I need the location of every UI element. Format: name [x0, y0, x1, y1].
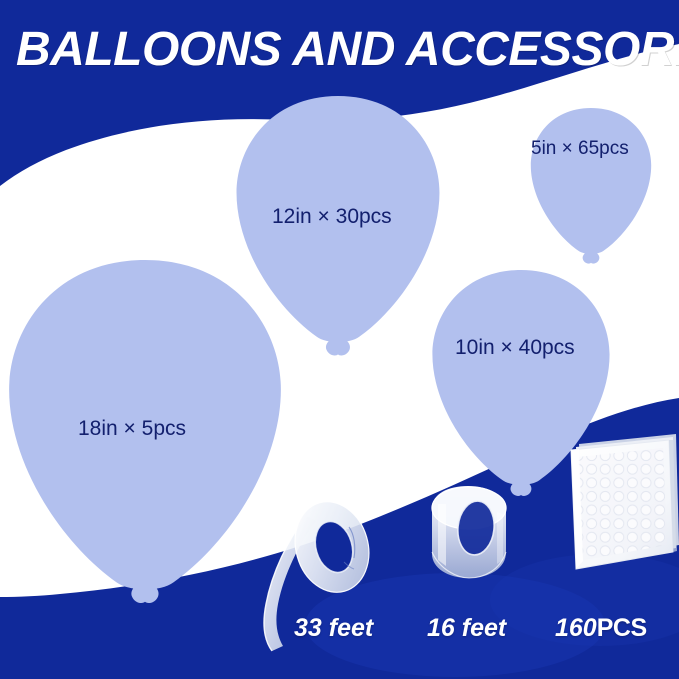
accessory-group: [0, 0, 679, 679]
glue-dots-unit: PCS: [597, 614, 647, 642]
balloon-label-5in: 5in × 65pcs: [531, 138, 629, 160]
balloon-label-12in: 12in × 30pcs: [272, 205, 392, 229]
balloon-label-18in: 18in × 5pcs: [78, 417, 186, 441]
accessory-label-tape-roll: 33 feet: [294, 614, 373, 643]
tape-ring: [432, 486, 506, 578]
accessory-label-tape-ring: 16 feet: [427, 614, 506, 643]
glue-dots-count: 160: [555, 614, 597, 642]
balloon-label-10in: 10in × 40pcs: [455, 336, 575, 360]
accessory-label-glue-dots: 160PCS: [555, 614, 647, 643]
page-title: BALLOONS AND ACCESSORIES: [16, 22, 676, 78]
product-infographic: BALLOONS AND ACCESSORIES 18in × 5pcs 12i…: [0, 0, 679, 679]
glue-dot-sheet: [570, 434, 679, 570]
